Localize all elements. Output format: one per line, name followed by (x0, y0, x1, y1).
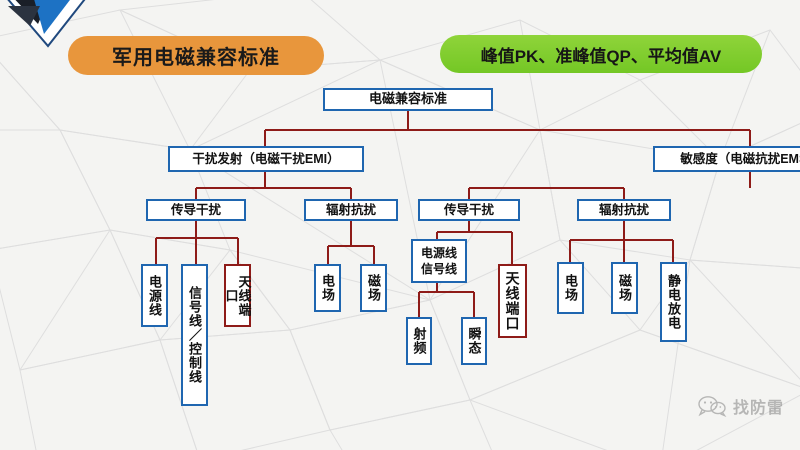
tree-leaf-ems-electric-field[interactable]: 电场 (557, 262, 584, 314)
tree-node-label: 磁场 (367, 274, 380, 302)
tree-node-label: 天线端口 (506, 271, 520, 331)
tree-node-label: 辐射抗扰 (326, 203, 376, 217)
tree-leaf-emi-antenna-port[interactable]: 天线端口 (224, 264, 251, 327)
slide-title-pill: 军用电磁兼容标准 (68, 36, 324, 75)
tree-leaf-emi-magnetic-field[interactable]: 磁场 (360, 264, 387, 312)
tree-node-label: 射频 (413, 327, 426, 355)
slide-title-text: 军用电磁兼容标准 (112, 41, 280, 70)
tree-node-label: 敏感度（电磁抗扰EMS） (680, 152, 800, 166)
watermark-text: 找防雷 (733, 394, 784, 418)
tree-node-emi-conducted[interactable]: 传导干扰 (146, 199, 246, 221)
tree-node-ems-conducted[interactable]: 传导干扰 (418, 199, 520, 221)
tree-node-label: 电场 (321, 274, 334, 302)
tree-node-ems-power-signal-lines[interactable]: 电源线信号线 (411, 239, 467, 283)
tree-leaf-ems-rf[interactable]: 射频 (406, 317, 432, 365)
tree-node-label: 天线端口 (225, 269, 251, 322)
tree-node-label: 辐射抗扰 (599, 203, 649, 217)
tree-node-label: 干扰发射（电磁干扰EMI） (192, 152, 339, 166)
tree-node-label: 信号线／控制线 (188, 286, 201, 384)
tree-leaf-ems-transient[interactable]: 瞬态 (461, 317, 487, 365)
slide-canvas: 军用电磁兼容标准 峰值PK、准峰值QP、平均值AV (0, 0, 800, 450)
watermark: 找防雷 (697, 394, 784, 418)
tree-node-label: 电磁兼容标准 (369, 92, 447, 107)
tree-node-label: 传导干扰 (171, 203, 221, 217)
tree-leaf-ems-esd[interactable]: 静电放电 (660, 262, 687, 342)
tree-leaf-ems-magnetic-field[interactable]: 磁场 (611, 262, 638, 314)
tree-leaf-emi-power-line[interactable]: 电源线 (141, 264, 168, 327)
tree-node-ems-radiated[interactable]: 辐射抗扰 (577, 199, 671, 221)
tree-node-label: 电源线信号线 (417, 245, 461, 277)
tree-node-label: 电场 (564, 274, 577, 302)
tree-node-label: 传导干扰 (444, 203, 494, 217)
detector-tag-text: 峰值PK、准峰值QP、平均值AV (481, 42, 722, 67)
tree-node-label: 瞬态 (468, 327, 481, 355)
tree-node-emi-radiated[interactable]: 辐射抗扰 (304, 199, 398, 221)
detector-tag-pill: 峰值PK、准峰值QP、平均值AV (440, 35, 762, 73)
tree-leaf-emi-electric-field[interactable]: 电场 (314, 264, 341, 312)
tree-node-label: 磁场 (618, 274, 631, 302)
tree-node-emi[interactable]: 干扰发射（电磁干扰EMI） (168, 146, 364, 172)
tree-node-label: 电源线 (148, 275, 161, 317)
tree-node-label: 静电放电 (667, 274, 680, 330)
tree-node-root[interactable]: 电磁兼容标准 (323, 88, 493, 111)
wechat-icon (697, 395, 727, 417)
tree-leaf-emi-signal-control-line[interactable]: 信号线／控制线 (181, 264, 208, 406)
tree-node-ems[interactable]: 敏感度（电磁抗扰EMS） (653, 146, 800, 172)
tree-leaf-ems-antenna-port[interactable]: 天线端口 (498, 264, 527, 338)
